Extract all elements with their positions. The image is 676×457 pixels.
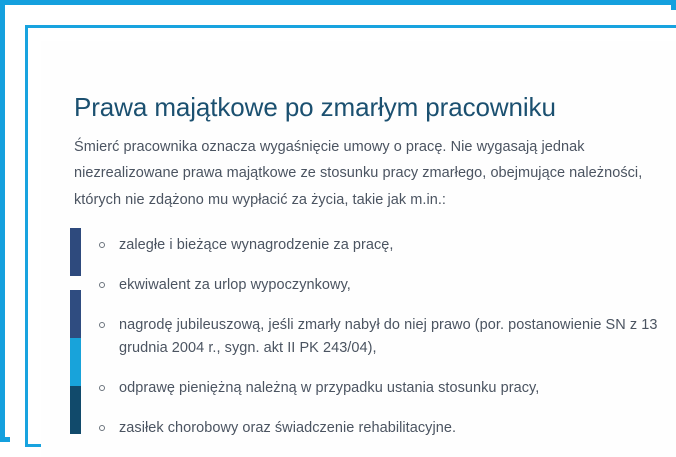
circle-bullet-icon	[99, 385, 105, 391]
accent-bar-segment-1	[70, 228, 81, 276]
accent-bar-rail	[70, 228, 81, 406]
circle-bullet-icon	[99, 425, 105, 431]
rights-list: zaległe i bieżące wynagrodzenie za pracę…	[93, 234, 663, 440]
list-item: ekwiwalent za urlop wypoczynkowy,	[93, 274, 663, 297]
list-item-label: odprawę pieniężną należną w przypadku us…	[119, 380, 539, 396]
list-item-label: zasiłek chorobowy oraz świadczenie rehab…	[119, 420, 456, 436]
list-item: odprawę pieniężną należną w przypadku us…	[93, 377, 663, 400]
list-item-label: ekwiwalent za urlop wypoczynkowy,	[119, 277, 351, 293]
list-item: nagrodę jubileuszową, jeśli zmarły nabył…	[93, 314, 663, 360]
accent-bar-segment-2	[70, 290, 81, 338]
list-item-label: nagrodę jubileuszową, jeśli zmarły nabył…	[119, 317, 657, 356]
list-item-label: zaległe i bieżące wynagrodzenie za pracę…	[119, 237, 394, 253]
list-item: zaległe i bieżące wynagrodzenie za pracę…	[93, 234, 663, 257]
circle-bullet-icon	[99, 322, 105, 328]
circle-bullet-icon	[99, 242, 105, 248]
accent-bar-segment-3	[70, 338, 81, 386]
info-card: Prawa majątkowe po zmarłym pracowniku Śm…	[41, 41, 676, 457]
circle-bullet-icon	[99, 282, 105, 288]
intro-paragraph: Śmierć pracownika oznacza wygaśnięcie um…	[74, 134, 649, 214]
accent-bar-segment-4	[70, 386, 81, 434]
outer-border-frame: Prawa majątkowe po zmarłym pracowniku Śm…	[0, 0, 676, 442]
border-gap: Prawa majątkowe po zmarłym pracowniku Śm…	[10, 10, 676, 442]
list-item: zasiłek chorobowy oraz świadczenie rehab…	[93, 417, 663, 440]
page-title: Prawa majątkowe po zmarłym pracowniku	[74, 90, 671, 124]
inner-border-frame: Prawa majątkowe po zmarłym pracowniku Śm…	[25, 25, 676, 447]
